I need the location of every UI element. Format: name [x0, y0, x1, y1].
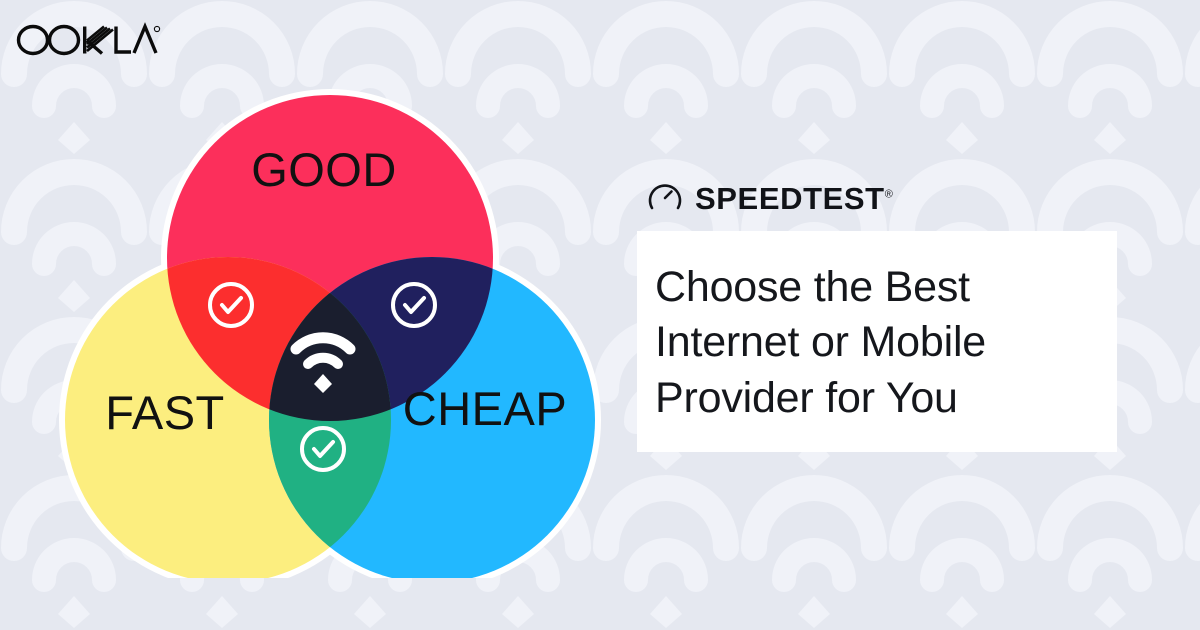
registered-trademark-symbol: ®	[885, 188, 893, 200]
speedtest-wordmark-text: SPEEDTEST	[695, 181, 885, 216]
ookla-logo	[16, 18, 161, 60]
venn-label-fast: FAST	[105, 386, 225, 439]
venn-label-good: GOOD	[251, 143, 397, 196]
venn-label-cheap: CHEAP	[403, 382, 567, 435]
page-title: Choose the Best Internet or Mobile Provi…	[655, 260, 1087, 426]
speedometer-icon	[648, 181, 682, 215]
headline-card: Choose the Best Internet or Mobile Provi…	[637, 231, 1117, 452]
venn-diagram: GOOD FAST CHEAP	[52, 62, 608, 578]
right-content-column: SPEEDTEST® Choose the Best Internet or M…	[637, 176, 1117, 452]
speedtest-wordmark: SPEEDTEST®	[695, 183, 893, 214]
speedtest-logo: SPEEDTEST®	[637, 176, 1117, 220]
